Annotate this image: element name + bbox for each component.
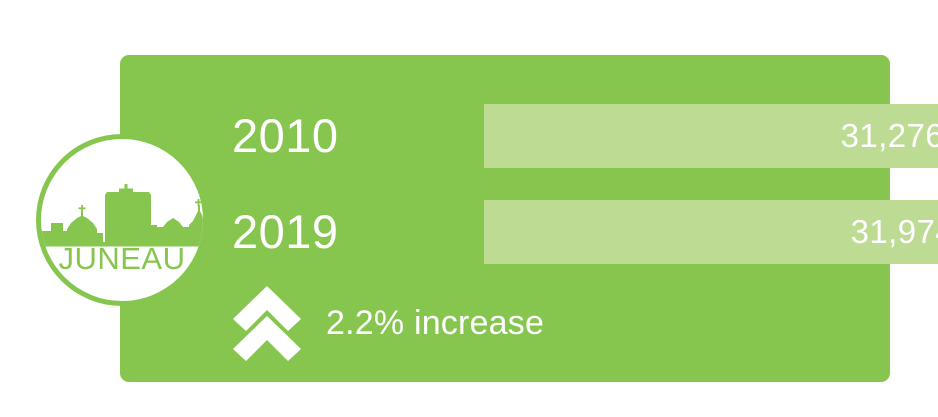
stat-panel: 2010 31,276 2019 31,974 2.2% increase (120, 55, 890, 382)
bar-value-2019: 31,974 (851, 213, 938, 251)
trend-label: 2.2% increase (326, 304, 544, 343)
city-name-label: JUNEAU (41, 243, 203, 274)
city-badge: JUNEAU (36, 134, 208, 306)
bar-2019: 31,974 (484, 200, 938, 264)
population-change-infographic: 2010 31,276 2019 31,974 2.2% increase (0, 0, 938, 417)
bar-value-2010: 31,276 (841, 117, 938, 155)
year-label-2019: 2019 (232, 200, 360, 264)
trend-row: 2.2% increase (232, 283, 544, 363)
city-skyline-icon (41, 139, 203, 301)
double-chevron-up-icon (232, 284, 302, 362)
year-label-2010: 2010 (232, 104, 360, 168)
bar-2010: 31,276 (484, 104, 938, 168)
